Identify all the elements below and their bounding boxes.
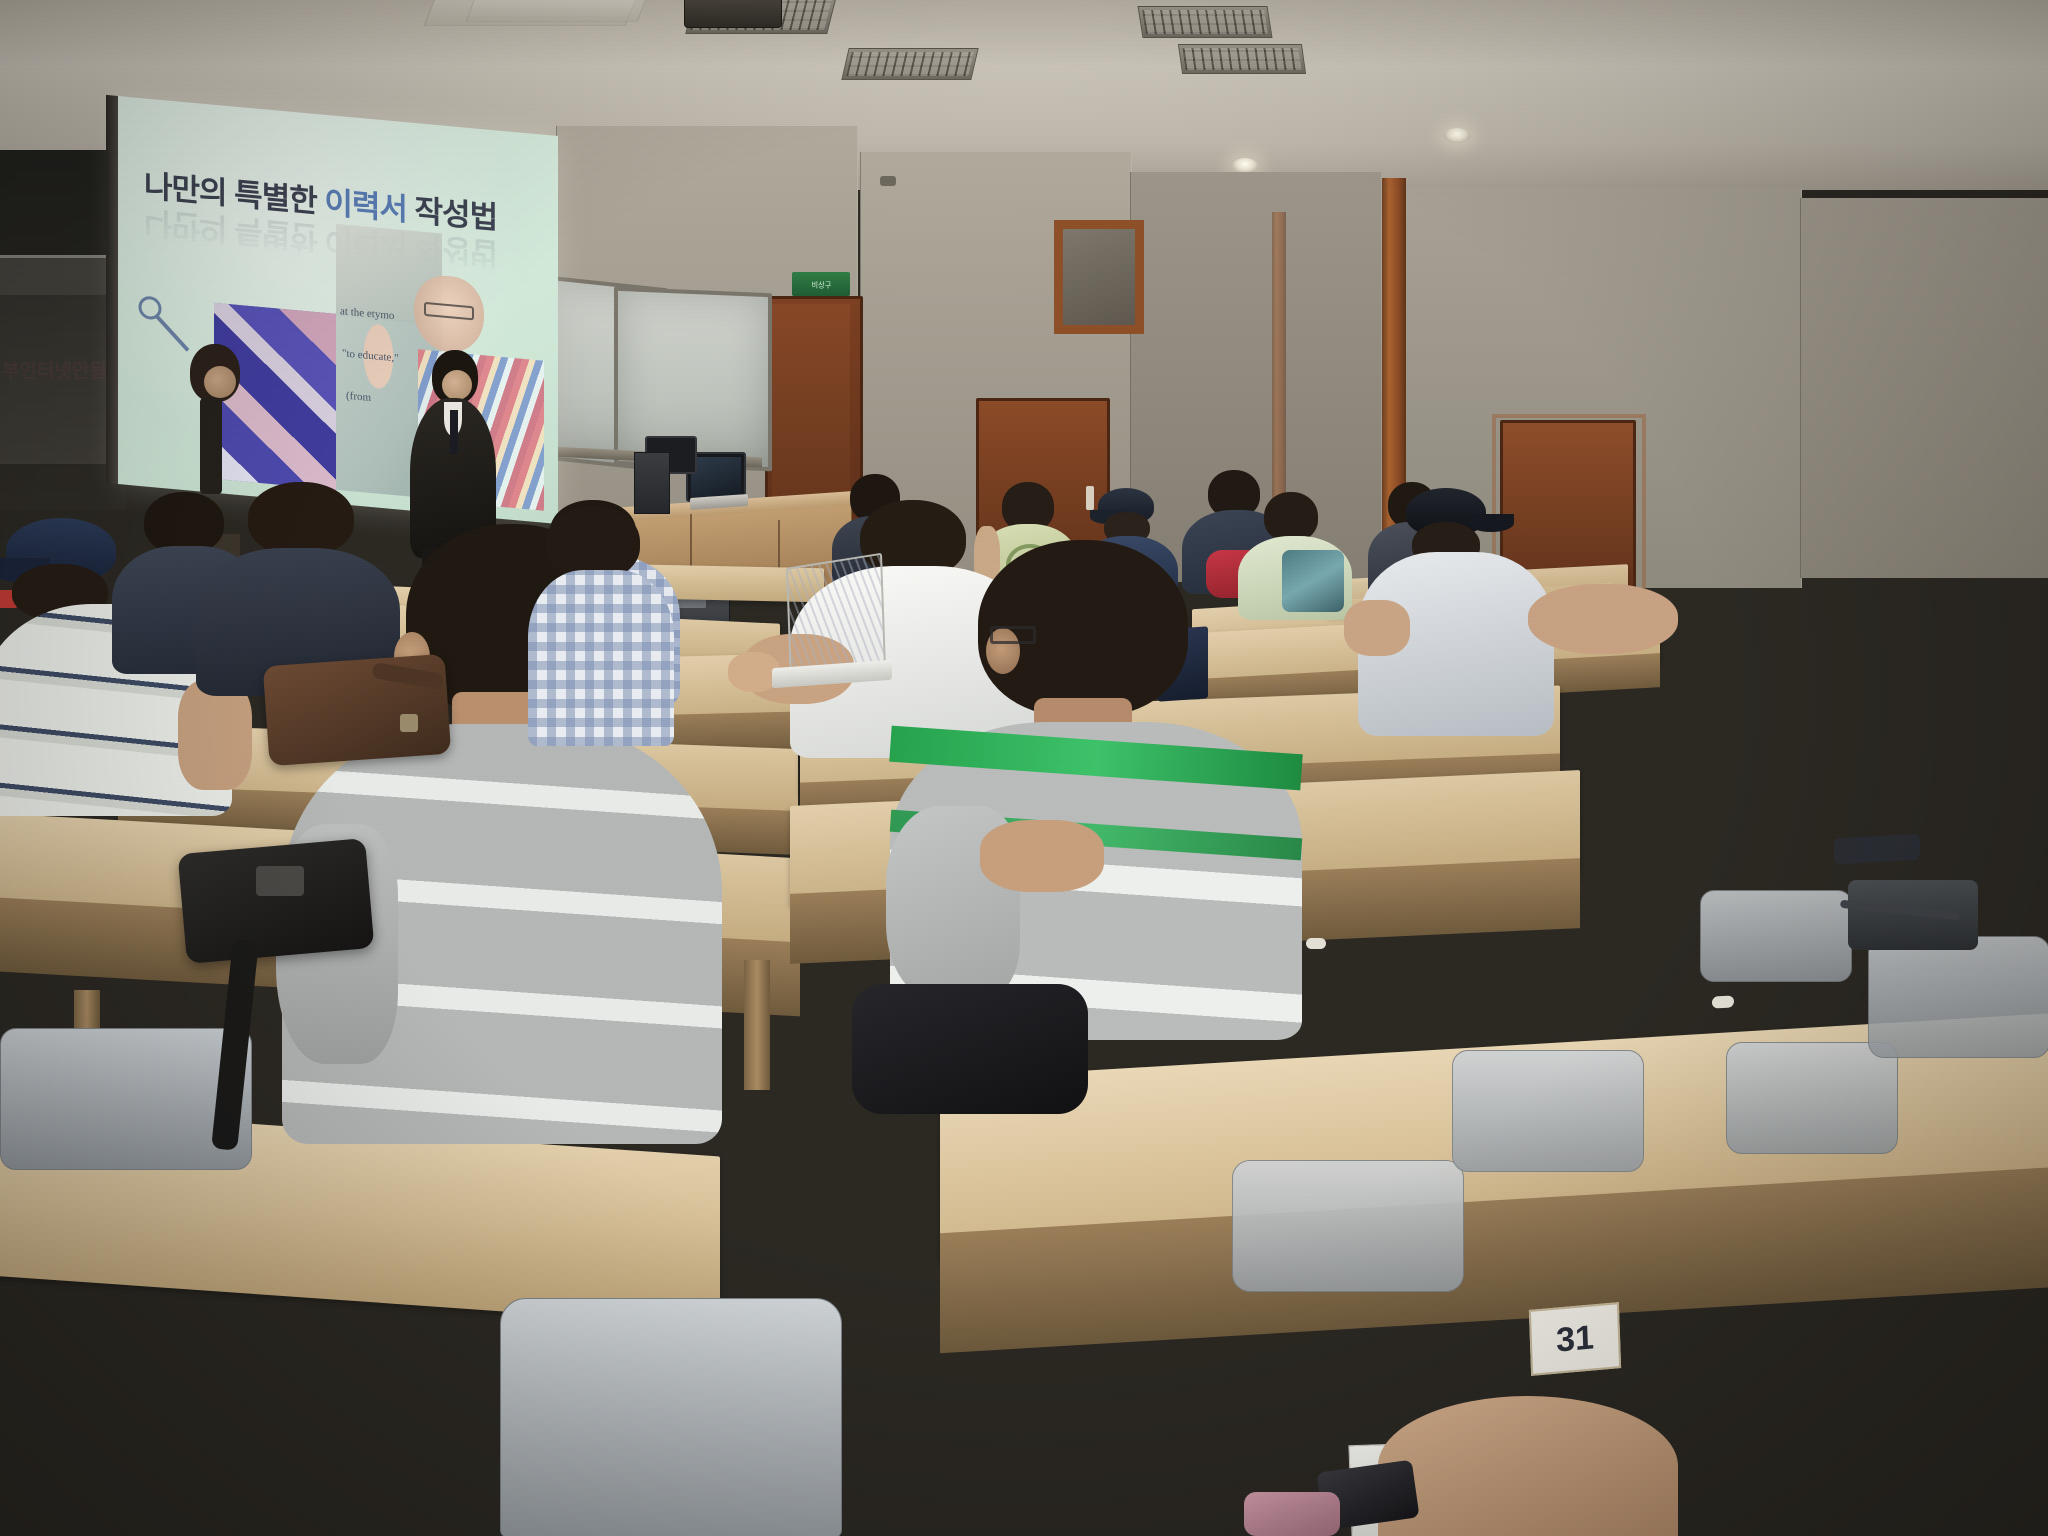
lecture-hall-photo: 제1강의실 비상구 부인터넷안됨 나만의 특별한 이력서 작성법 나만의 특별한… [0, 0, 2048, 1536]
pink-object [1244, 1492, 1340, 1536]
ceiling-vent [841, 48, 978, 80]
ceiling-tile [466, 0, 647, 22]
face [442, 370, 472, 400]
chair[interactable] [1868, 936, 2048, 1058]
student-right-edge-arm [1528, 584, 1678, 704]
arm [178, 680, 252, 790]
chair[interactable] [1726, 1042, 1898, 1154]
ceiling-vent [1137, 6, 1272, 38]
wall-panel [1800, 198, 2048, 578]
slide-body-line3: (from [346, 389, 371, 406]
glasses-icon [990, 626, 1036, 644]
shirt-placket [200, 398, 222, 494]
arm [1344, 600, 1410, 656]
emergency-exit-sign: 비상구 [792, 272, 850, 296]
chair[interactable] [1700, 890, 1852, 982]
desk-leg [744, 960, 770, 1090]
student-checked-shirt [528, 506, 676, 746]
wall-picture-frame [1054, 220, 1144, 334]
head [1264, 492, 1318, 542]
object-on-desk-right[interactable] [1834, 834, 1920, 865]
small-object-on-desk[interactable] [1712, 995, 1734, 1008]
desk-number-label: 31 [1555, 1318, 1594, 1360]
chair[interactable] [500, 1298, 842, 1536]
bag-brown-buckle-icon [400, 714, 418, 732]
ceiling-speaker [684, 0, 782, 28]
desk-number-placard: 31 [1529, 1302, 1621, 1376]
arm [1528, 584, 1678, 654]
ceiling-downlight [1444, 128, 1470, 143]
head [546, 506, 640, 580]
chair[interactable] [1232, 1160, 1464, 1292]
necktie [450, 410, 458, 454]
whiteboard-far-left [0, 258, 112, 464]
forearm [980, 820, 1104, 892]
cap-brim [1468, 514, 1514, 532]
bag-black[interactable] [178, 838, 375, 964]
security-camera-icon [880, 176, 896, 186]
chair[interactable] [0, 1028, 252, 1170]
ceiling-vent [1178, 44, 1306, 74]
bag-black-buckle-icon [256, 866, 304, 896]
torso [528, 570, 674, 746]
student-green-stripe [886, 540, 1316, 1040]
emergency-exit-label: 비상구 [811, 279, 831, 289]
screen-left-edge [106, 95, 118, 484]
chair[interactable] [1452, 1050, 1644, 1172]
bag-on-floor[interactable] [852, 984, 1088, 1114]
hand-foreground [1378, 1396, 1678, 1536]
